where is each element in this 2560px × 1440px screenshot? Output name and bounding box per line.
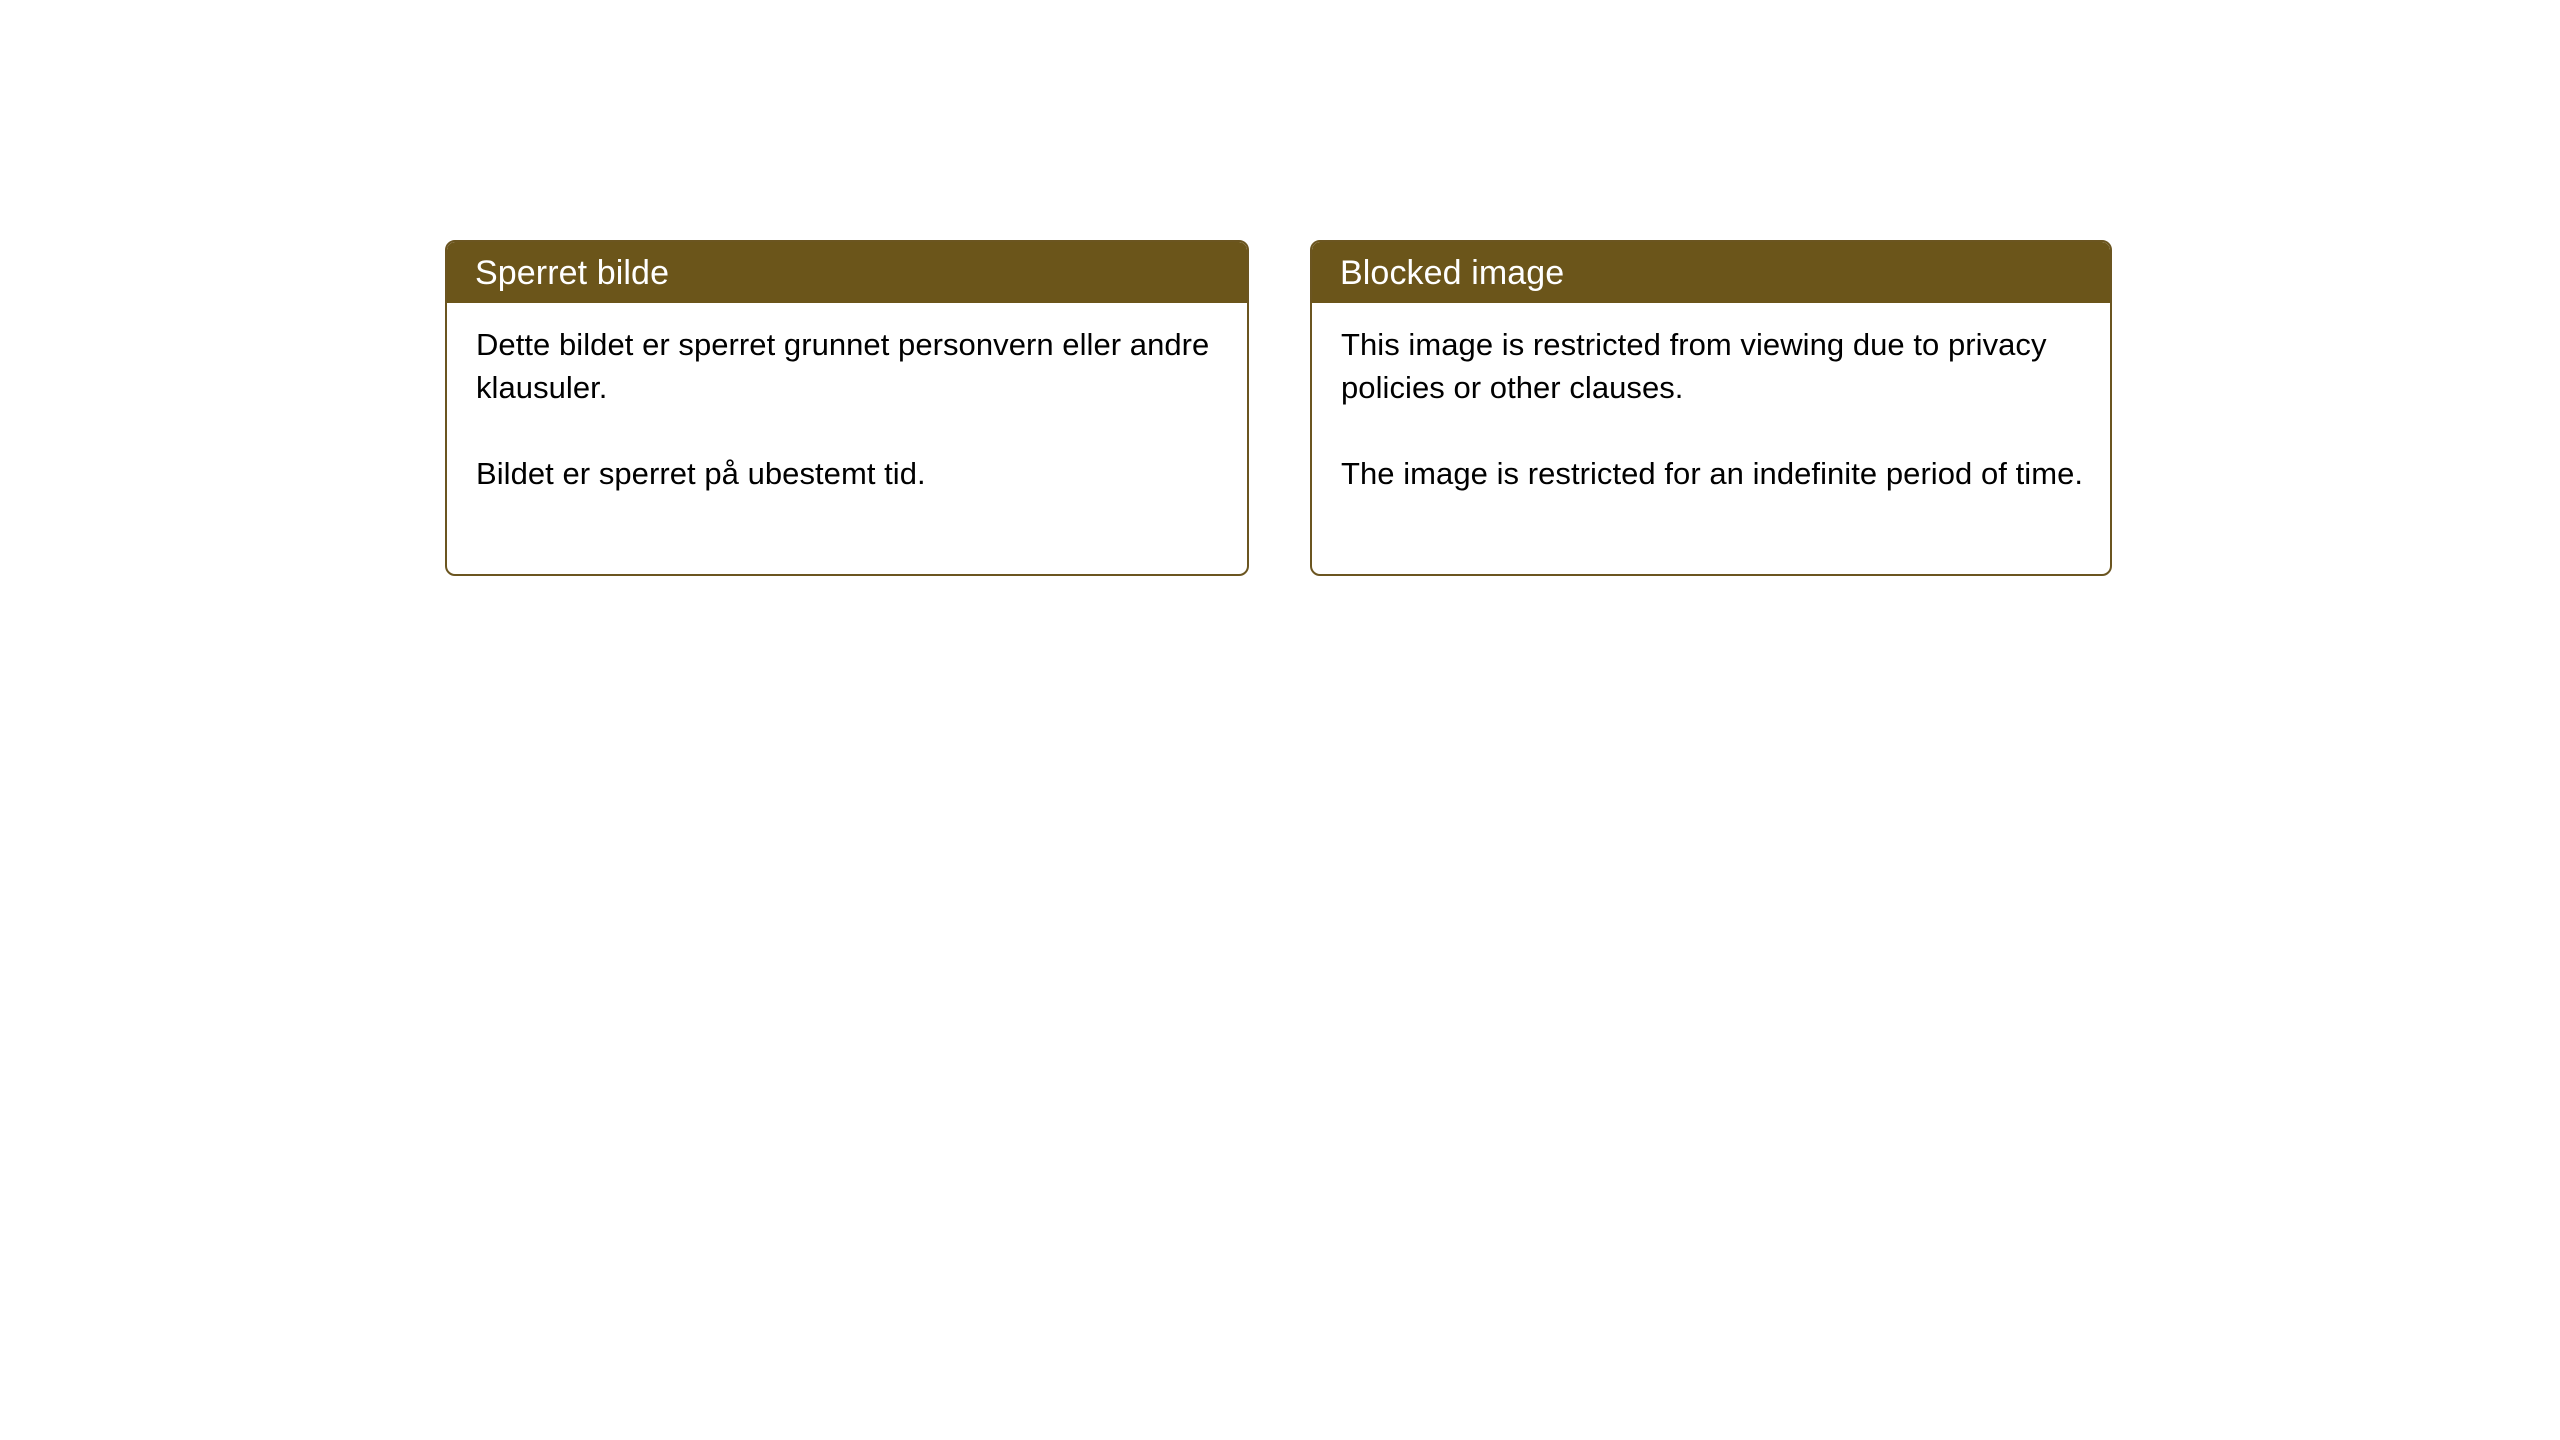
notice-paragraph-reason-en: This image is restricted from viewing du… bbox=[1341, 323, 2084, 409]
panel-header-no: Sperret bilde bbox=[447, 242, 1247, 303]
notice-paragraph-reason-no: Dette bildet er sperret grunnet personve… bbox=[476, 323, 1221, 409]
notice-paragraph-duration-no: Bildet er sperret på ubestemt tid. bbox=[476, 452, 1221, 495]
blocked-image-panel-no: Sperret bilde Dette bildet er sperret gr… bbox=[445, 240, 1249, 576]
notice-paragraph-duration-en: The image is restricted for an indefinit… bbox=[1341, 452, 2084, 495]
panel-body-no: Dette bildet er sperret grunnet personve… bbox=[447, 303, 1247, 495]
blocked-image-panel-en: Blocked image This image is restricted f… bbox=[1310, 240, 2112, 576]
panel-body-en: This image is restricted from viewing du… bbox=[1312, 303, 2110, 495]
panel-title-en: Blocked image bbox=[1340, 256, 1564, 290]
panel-header-en: Blocked image bbox=[1312, 242, 2110, 303]
blocked-image-stage: Sperret bilde Dette bildet er sperret gr… bbox=[0, 0, 2560, 1440]
panel-title-no: Sperret bilde bbox=[475, 256, 669, 290]
